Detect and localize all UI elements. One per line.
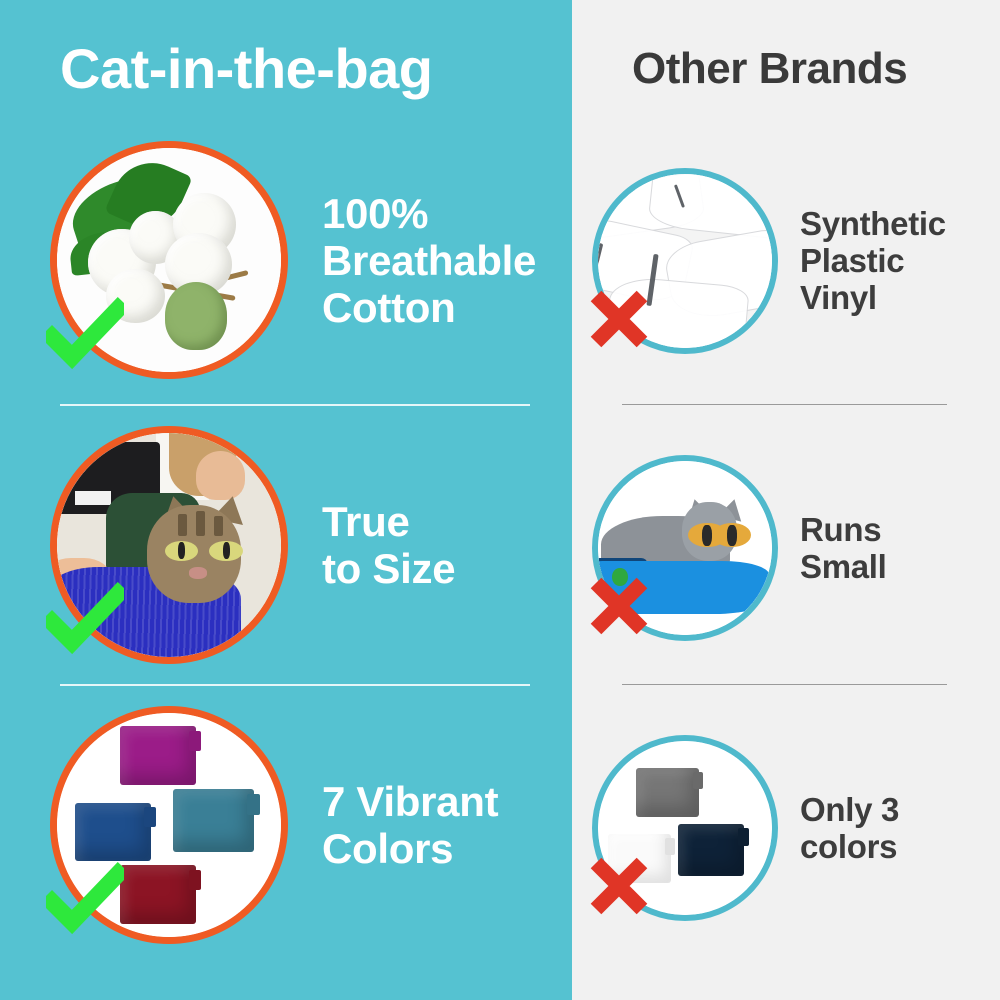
orange-ring-2 [50, 426, 288, 664]
left-divider-1 [60, 404, 530, 406]
panel-gap [572, 0, 580, 1000]
feature-row-runs-small: Runs Small [592, 455, 992, 640]
teal-ring-1 [592, 168, 778, 354]
feature-label-synthetic-plastic-vinyl: Synthetic Plastic Vinyl [800, 205, 946, 316]
circle-plastic-vinyl [592, 168, 778, 354]
feature-row-true-to-size: True to Size [50, 425, 550, 665]
gray-cat-on-blue-bed-photo [598, 461, 772, 635]
circle-true-to-size [50, 426, 288, 664]
feature-label-runs-small: Runs Small [800, 511, 887, 585]
plastic-vinyl-sheets-photo [598, 174, 772, 348]
feature-label-true-to-size: True to Size [322, 498, 455, 592]
teal-ring-2 [592, 455, 778, 641]
feature-label-only-three-colors: Only 3 colors [800, 791, 899, 865]
comparison-infographic: Cat-in-the-bag [0, 0, 1000, 1000]
feature-label-vibrant-colors: 7 Vibrant Colors [322, 778, 498, 872]
feature-row-only-three-colors: Only 3 colors [592, 735, 992, 920]
orange-ring-3 [50, 706, 288, 944]
teal-ring-3 [592, 735, 778, 921]
circle-vibrant-colors [50, 706, 288, 944]
right-panel-title: Other Brands [632, 44, 907, 94]
three-folded-bags-photo [598, 741, 772, 915]
cotton-bolls-photo [57, 148, 281, 372]
feature-row-vibrant-colors: 7 Vibrant Colors [50, 705, 550, 945]
circle-cotton [50, 141, 288, 379]
circle-only-three-colors [592, 735, 778, 921]
left-divider-2 [60, 684, 530, 686]
feature-row-synthetic-plastic-vinyl: Synthetic Plastic Vinyl [592, 168, 992, 353]
feature-row-breathable-cotton: 100% Breathable Cotton [50, 140, 550, 380]
right-panel-other-brands: Other Brands [580, 0, 1000, 1000]
right-divider-2 [622, 684, 947, 685]
circle-runs-small [592, 455, 778, 641]
right-divider-1 [622, 404, 947, 405]
feature-label-breathable-cotton: 100% Breathable Cotton [322, 190, 536, 331]
folded-colored-bags-photo [57, 713, 281, 937]
left-panel-title: Cat-in-the-bag [60, 38, 433, 100]
left-panel-cat-in-the-bag: Cat-in-the-bag [0, 0, 572, 1000]
cat-in-green-bag-photo [57, 433, 281, 657]
orange-ring-1 [50, 141, 288, 379]
